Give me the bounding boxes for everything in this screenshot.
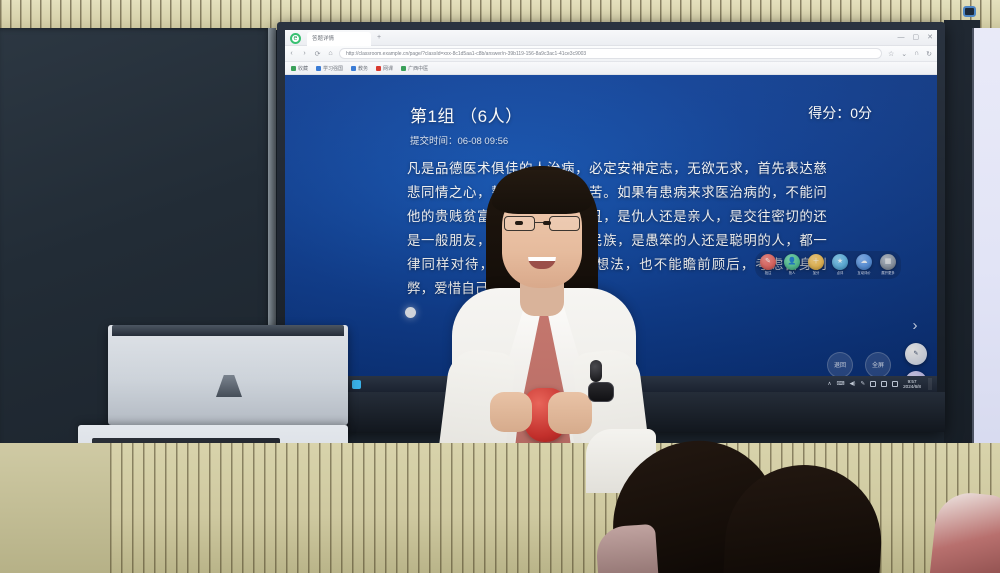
toolbar-label: 展开更多 [880,271,897,276]
taskbar-app-media[interactable] [352,380,361,389]
lectern-monitor-top-edge [112,325,344,336]
toolbar-button-pick-student[interactable]: 👤 抢人 [783,254,801,276]
keyboard-icon[interactable] [870,381,876,387]
bookmark-icon [291,66,296,71]
address-bar[interactable]: http://classroom.example.cn/page/?classI… [339,48,882,59]
tray-chevron-icon[interactable]: ∧ [827,381,831,387]
toolbar-button-add-score[interactable]: ＋ 加分 [807,254,825,276]
toolbar-label: 互动评价 [856,271,873,276]
maximize-icon[interactable]: ▢ [913,33,920,42]
toolbar-button-comment[interactable]: ★ 点评 [831,254,849,276]
system-tray[interactable]: ∧ ⌨ ◀) ✎ 9:57 2024/6/8 [827,378,937,390]
bookmark-item[interactable]: 广西中医 [401,65,428,72]
collections-icon[interactable]: ⌄ [901,50,907,58]
teacher-eye-left [515,221,523,225]
browser-navbar[interactable]: ‹ › ⟳ ⌂ http://classroom.example.cn/page… [285,46,937,62]
bookmarks-bar[interactable]: 收藏 学习强国 教务 网课 广西中医 [285,62,937,75]
next-page-chevron-icon[interactable]: › [904,315,926,337]
bookmark-item[interactable]: 教务 [351,65,368,72]
action-toolbar[interactable]: ✎ 批注 👤 抢人 ＋ 加分 ★ 点评 [755,251,901,279]
annotate-icon: ✎ [760,254,776,270]
star-icon: ★ [832,254,848,270]
lapel-microphone [590,360,602,382]
bookmark-icon [401,66,406,71]
forward-icon[interactable]: › [298,50,311,57]
toolbar-label: 加分 [808,271,825,276]
show-desktop-button[interactable] [928,378,932,390]
refresh-icon[interactable]: ⟳ [311,50,324,58]
teacher-wristwatch [588,382,614,402]
volume-icon[interactable]: ◀) [849,381,855,387]
fab-white-button[interactable]: ✎ [905,343,927,365]
group-title: 第1组 （6人） [410,102,523,127]
score-label: 得分：0分 [808,103,872,123]
cloud-icon: ☁ [856,254,872,270]
person-icon: 👤 [784,254,800,270]
window-controls[interactable]: — ▢ ✕ [898,33,934,42]
minimize-icon[interactable]: — [898,33,905,42]
bottom-pill-row[interactable]: 退回 全屏 [827,352,891,378]
plus-icon: ＋ [808,254,824,270]
toolbar-button-interactive-eval[interactable]: ☁ 互动评价 [855,254,873,276]
bookmark-label: 收藏 [298,65,308,72]
bookmark-icon [351,66,356,71]
toolbar-button-annotate[interactable]: ✎ 批注 [759,254,777,276]
slide-indicator-dot [405,307,416,318]
navbar-right-icons[interactable]: ☆ ⌄ ∩ ↻ [888,50,937,58]
favorite-star-icon[interactable]: ☆ [888,50,894,58]
battery-icon[interactable] [881,381,887,387]
window-icon[interactable] [892,381,898,387]
teacher-hand-right [548,392,592,434]
new-tab-button[interactable]: + [377,34,381,41]
bookmark-label: 网课 [383,65,393,72]
right-whiteboard-panel [972,28,1000,458]
wall-left-strip [0,443,110,573]
close-icon[interactable]: ✕ [927,33,933,42]
bookmark-item[interactable]: 收藏 [291,65,308,72]
bookmark-label: 学习强国 [323,65,343,72]
return-button[interactable]: 退回 [827,352,853,378]
classroom-scene: e 答题详情 + — ▢ ✕ ‹ › ⟳ ⌂ http://classroom.… [0,0,1000,573]
toolbar-label: 点评 [832,271,849,276]
back-icon[interactable]: ‹ [285,50,298,57]
toolbar-label: 抢人 [784,271,801,276]
headphones-icon[interactable]: ∩ [914,50,919,58]
ceiling-camera-icon [963,6,976,17]
submit-time: 提交时间：06-08 09:56 [410,133,508,147]
bookmark-item[interactable]: 学习强国 [316,65,343,72]
bookmark-icon [316,66,321,71]
browser-tab[interactable]: 答题详情 [307,32,371,46]
teacher-eye-right [543,221,551,225]
pen-icon[interactable]: ✎ [861,381,866,387]
taskbar-clock[interactable]: 9:57 2024/6/8 [903,379,921,390]
home-icon[interactable]: ⌂ [324,50,337,57]
toolbar-button-more[interactable]: ▦ 展开更多 [879,254,897,276]
history-icon[interactable]: ↻ [926,50,932,58]
browser-logo-icon: e [290,33,301,44]
grid-icon: ▦ [880,254,896,270]
toolbar-label: 批注 [760,271,777,276]
bookmark-item[interactable]: 网课 [376,65,393,72]
network-icon[interactable]: ⌨ [836,381,844,387]
glasses-lens-right [549,216,580,231]
teacher-hand-left [490,392,532,432]
fullscreen-button[interactable]: 全屏 [865,352,891,378]
teacher-glasses [502,216,582,232]
bookmark-icon [376,66,381,71]
clock-date: 2024/6/8 [903,384,921,389]
browser-titlebar: e 答题详情 + — ▢ ✕ [285,30,937,46]
bookmark-label: 广西中医 [408,65,428,72]
teacher-fringe [492,170,592,214]
bookmark-label: 教务 [358,65,368,72]
